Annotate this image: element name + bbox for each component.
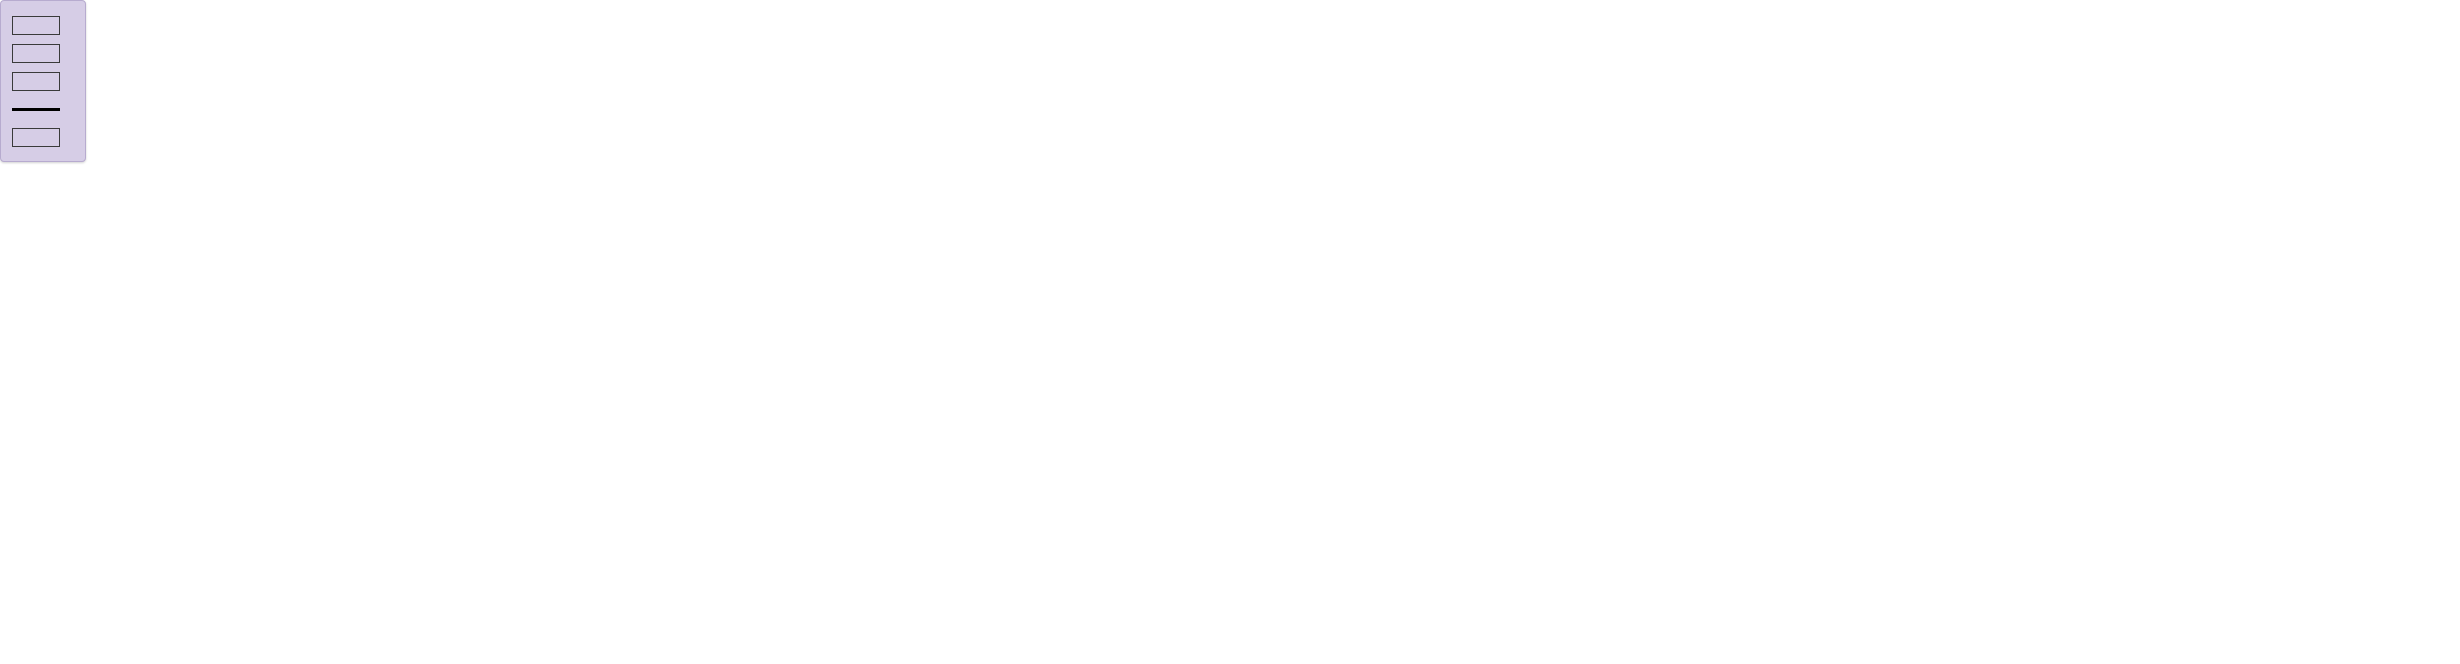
figure-canvas: [0, 0, 2460, 664]
reference-buffer-swatch-icon: [12, 128, 60, 147]
water-swatch-icon: [12, 72, 60, 91]
legend-item-sand[interactable]: [12, 11, 73, 39]
sand-swatch-icon: [12, 16, 60, 35]
legend-box[interactable]: [0, 0, 86, 162]
legend-item-reference-buffer[interactable]: [12, 123, 73, 151]
legend-item-water[interactable]: [12, 67, 73, 95]
legend-item-whitewater[interactable]: [12, 39, 73, 67]
whitewater-swatch-icon: [12, 44, 60, 63]
shoreline-line-icon: [12, 100, 60, 119]
legend-item-shoreline[interactable]: [12, 95, 73, 123]
